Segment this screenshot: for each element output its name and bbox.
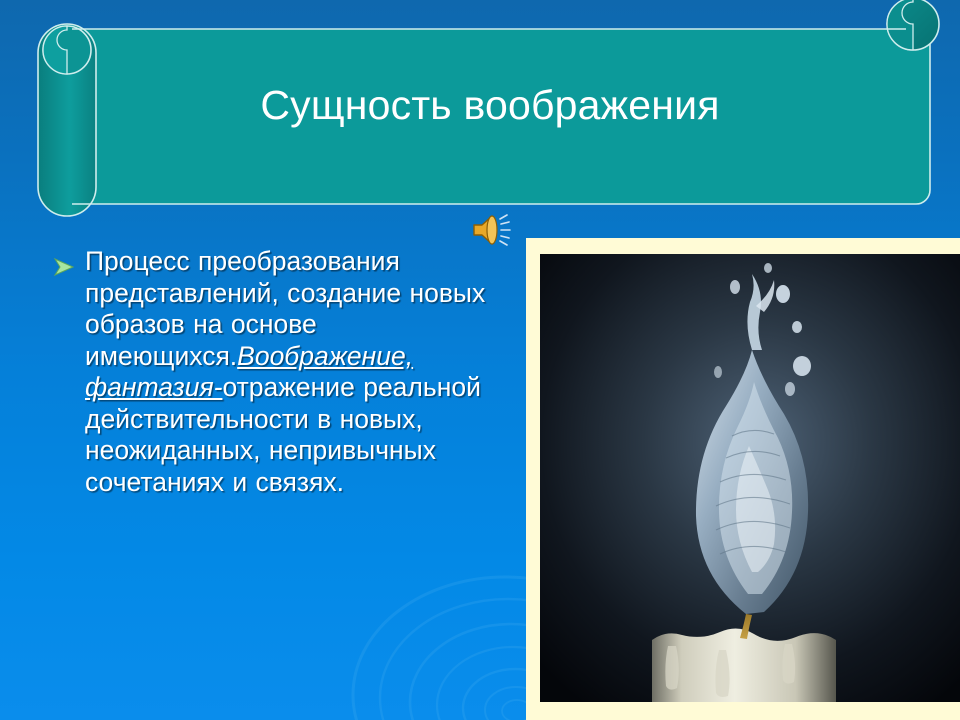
content-block: Процесс преобразования представлений, со… (52, 246, 522, 498)
body-paragraph: Процесс преобразования представлений, со… (85, 246, 522, 498)
page-title: Сущность воображения (120, 82, 860, 129)
title-banner: Сущность воображения (0, 0, 960, 236)
slide: Сущность воображения Процесс преобразова… (0, 0, 960, 720)
photo-candle-water-flame (540, 254, 960, 702)
speaker-icon[interactable] (470, 211, 516, 249)
arrow-bullet-icon (52, 255, 76, 279)
photo-frame (526, 238, 960, 720)
